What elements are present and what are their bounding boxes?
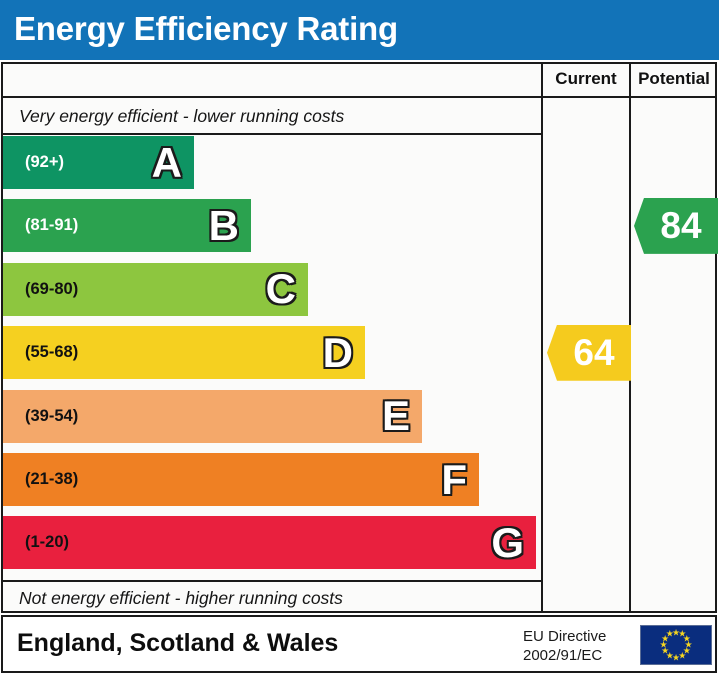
band-letter-e: E xyxy=(382,395,410,437)
energy-efficiency-rating-chart: Energy Efficiency Rating Current Potenti… xyxy=(0,0,719,675)
band-range-g: (1-20) xyxy=(25,533,69,552)
caption-rule-top xyxy=(1,133,541,135)
column-header-current: Current xyxy=(542,62,630,96)
footer-directive-line1: EU Directive xyxy=(523,627,606,646)
potential-rating-value: 84 xyxy=(660,207,701,244)
caption-very-efficient: Very energy efficient - lower running co… xyxy=(3,100,539,133)
band-row-a: (92+)A xyxy=(3,136,194,189)
band-row-f: (21-38)F xyxy=(3,453,479,506)
band-range-f: (21-38) xyxy=(25,470,78,489)
band-range-b: (81-91) xyxy=(25,216,78,235)
band-row-b: (81-91)B xyxy=(3,199,251,252)
band-list: (92+)A(81-91)B(69-80)C(55-68)D(39-54)E(2… xyxy=(3,136,541,580)
band-row-c: (69-80)C xyxy=(3,263,308,316)
footer-directive-line2: 2002/91/EC xyxy=(523,646,606,665)
band-letter-b: B xyxy=(209,205,239,247)
band-range-c: (69-80) xyxy=(25,280,78,299)
band-row-d: (55-68)D xyxy=(3,326,365,379)
column-header-potential: Potential xyxy=(630,62,718,96)
band-letter-c: C xyxy=(266,268,296,310)
band-row-g: (1-20)G xyxy=(3,516,536,569)
caption-not-efficient: Not energy efficient - higher running co… xyxy=(3,582,539,615)
footer-region-label: England, Scotland & Wales xyxy=(17,629,338,658)
eu-flag-icon xyxy=(640,625,712,665)
column-divider-current xyxy=(541,62,543,613)
band-range-d: (55-68) xyxy=(25,343,78,362)
header-bar: Energy Efficiency Rating xyxy=(0,0,719,60)
current-rating-arrow: 64 xyxy=(547,325,631,381)
band-letter-d: D xyxy=(323,332,353,374)
potential-rating-arrow: 84 xyxy=(634,198,718,254)
band-range-e: (39-54) xyxy=(25,407,78,426)
band-letter-f: F xyxy=(441,459,467,501)
footer-directive: EU Directive 2002/91/EC xyxy=(523,627,606,665)
current-rating-value: 64 xyxy=(573,334,614,371)
band-letter-g: G xyxy=(491,522,524,564)
footer-bar: England, Scotland & Wales EU Directive 2… xyxy=(1,615,717,673)
band-row-e: (39-54)E xyxy=(3,390,422,443)
column-header-row: Current Potential xyxy=(1,62,717,98)
page-title: Energy Efficiency Rating xyxy=(14,7,398,51)
band-letter-a: A xyxy=(152,142,182,184)
band-range-a: (92+) xyxy=(25,153,64,172)
